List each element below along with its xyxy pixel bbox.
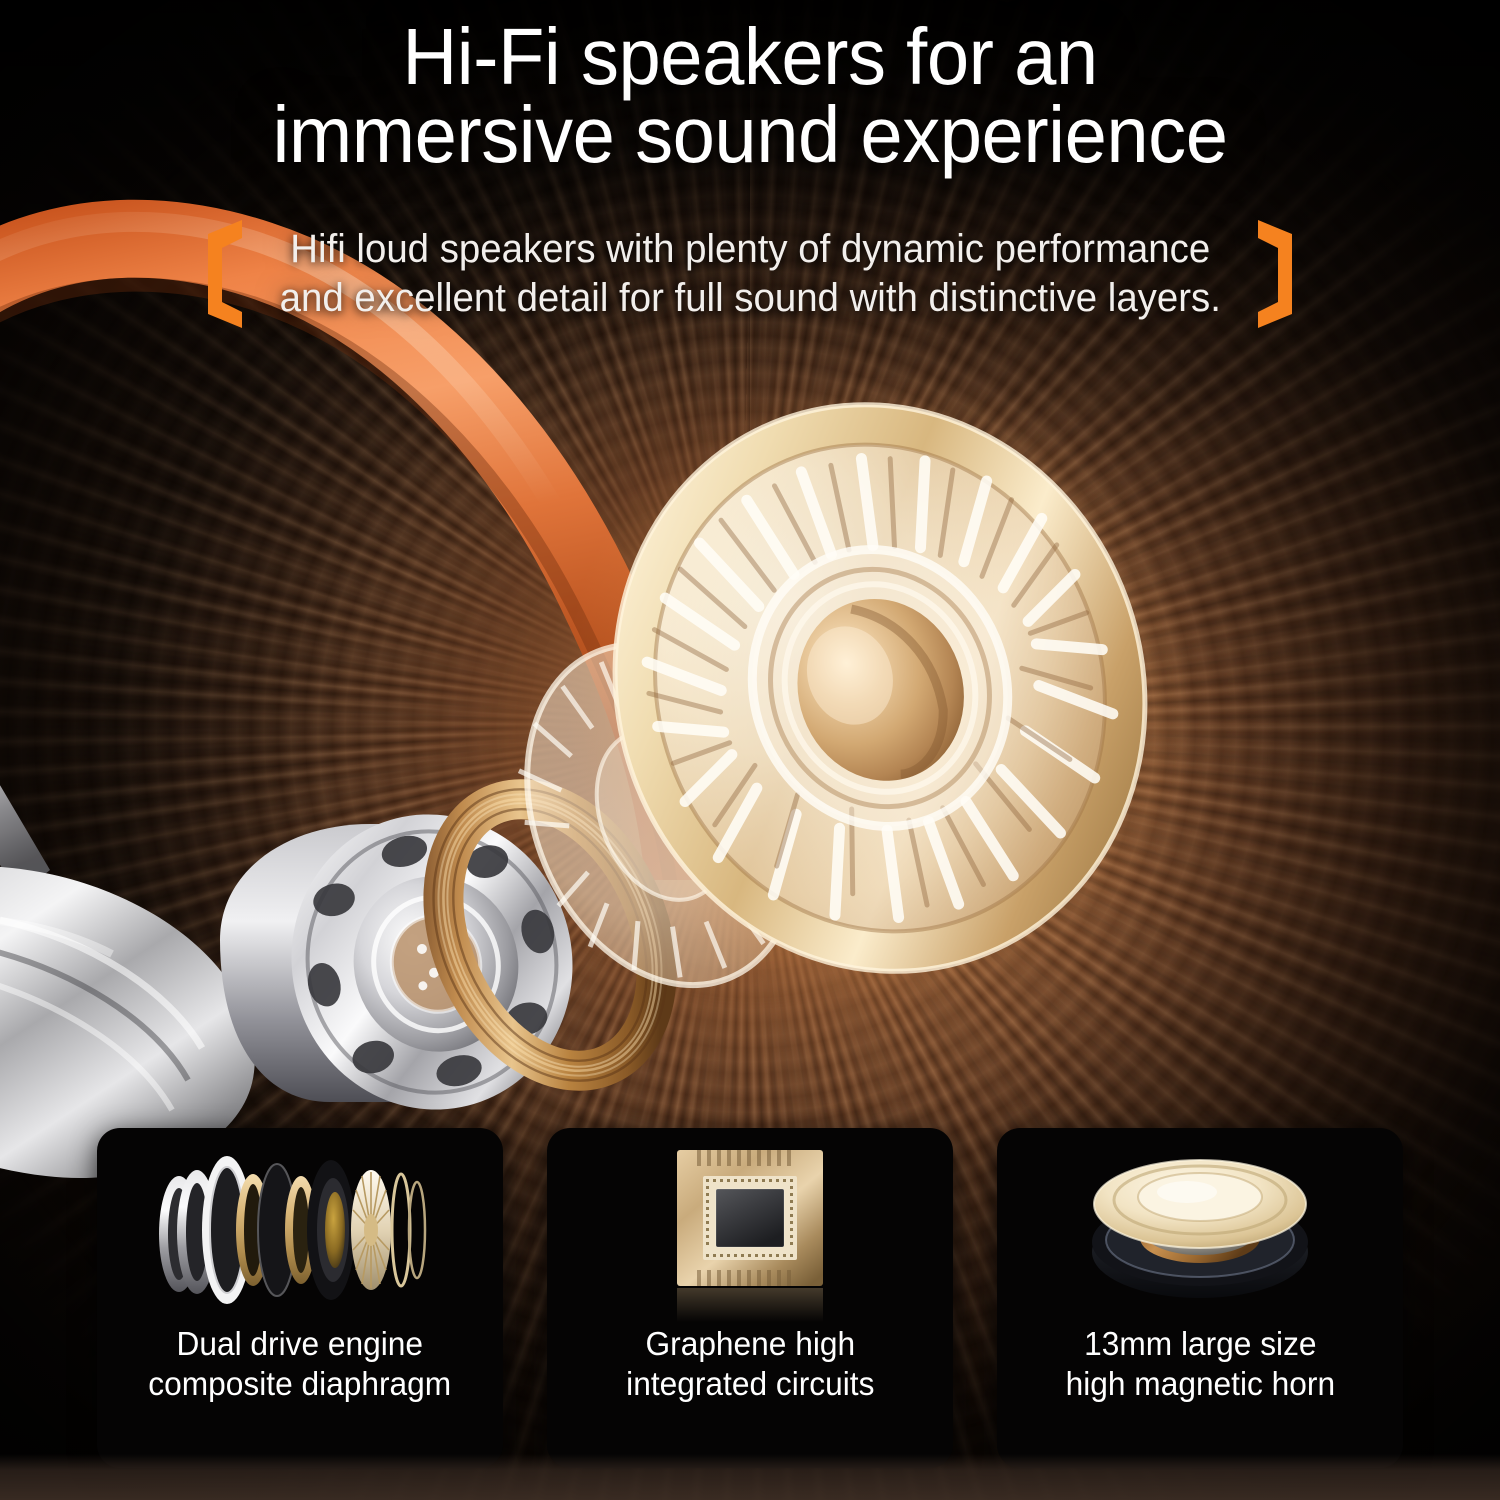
- left-bracket-icon: [202, 218, 248, 330]
- feature-card-dual-drive[interactable]: Dual drive engine composite diaphragm: [97, 1128, 503, 1468]
- graphene-chip-icon: [547, 1128, 953, 1324]
- page-title: Hi-Fi speakers for an immersive sound ex…: [38, 18, 1463, 173]
- feature-card-magnetic-horn[interactable]: 13mm large size high magnetic horn: [997, 1128, 1403, 1468]
- feature-card-list: Dual drive engine composite diaphragm: [97, 1128, 1403, 1468]
- hero-diaphragm: [570, 378, 1190, 998]
- right-bracket-icon: [1252, 218, 1298, 330]
- magnetic-horn-icon: [997, 1128, 1403, 1324]
- feature-card-graphene[interactable]: Graphene high integrated circuits: [547, 1128, 953, 1468]
- exploded-driver-stack-icon: [97, 1128, 503, 1324]
- feature-card-label: Dual drive engine composite diaphragm: [141, 1324, 459, 1403]
- feature-card-label: 13mm large size high magnetic horn: [1058, 1324, 1343, 1403]
- product-feature-image: Hi-Fi speakers for an immersive sound ex…: [0, 0, 1500, 1500]
- feature-card-label: Graphene high integrated circuits: [618, 1324, 882, 1403]
- subtitle-block: Hifi loud speakers with plenty of dynami…: [0, 218, 1500, 330]
- subtitle-text: Hifi loud speakers with plenty of dynami…: [268, 225, 1232, 323]
